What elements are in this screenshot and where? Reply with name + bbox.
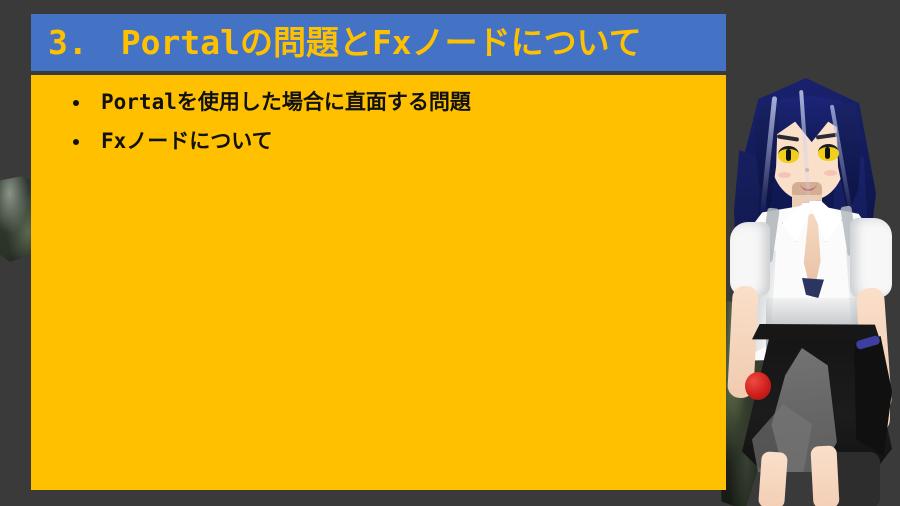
red-object (745, 372, 771, 400)
sleeve-left (730, 222, 770, 296)
presentation-stage: 3. Portalの問題とFxノードについて Portalを使用した場合に直面す… (0, 0, 900, 506)
pupil-left (786, 149, 791, 161)
blush-left (778, 172, 791, 178)
bullet-text: Fxノードについて (101, 126, 273, 156)
blush-right (824, 170, 837, 176)
leg-left (758, 451, 788, 506)
list-item: Portalを使用した場合に直面する問題 (31, 87, 726, 117)
slide-title: 3. Portalの問題とFxノードについて (31, 26, 642, 59)
anime-character-illustration (708, 0, 900, 506)
sleeve-right (850, 218, 892, 298)
bullet-text: Portalを使用した場合に直面する問題 (101, 87, 471, 117)
pupil-right (825, 147, 830, 159)
slide-title-bar: 3. Portalの問題とFxノードについて (31, 14, 726, 71)
bullet-list: Portalを使用した場合に直面する問題 Fxノードについて (31, 75, 726, 157)
skirt-waistband (752, 324, 880, 340)
bullet-dot-icon (73, 100, 79, 106)
slide-body: Portalを使用した場合に直面する問題 Fxノードについて (31, 75, 726, 490)
list-item: Fxノードについて (31, 126, 726, 156)
leg-right (810, 445, 839, 506)
bullet-dot-icon (73, 139, 79, 145)
